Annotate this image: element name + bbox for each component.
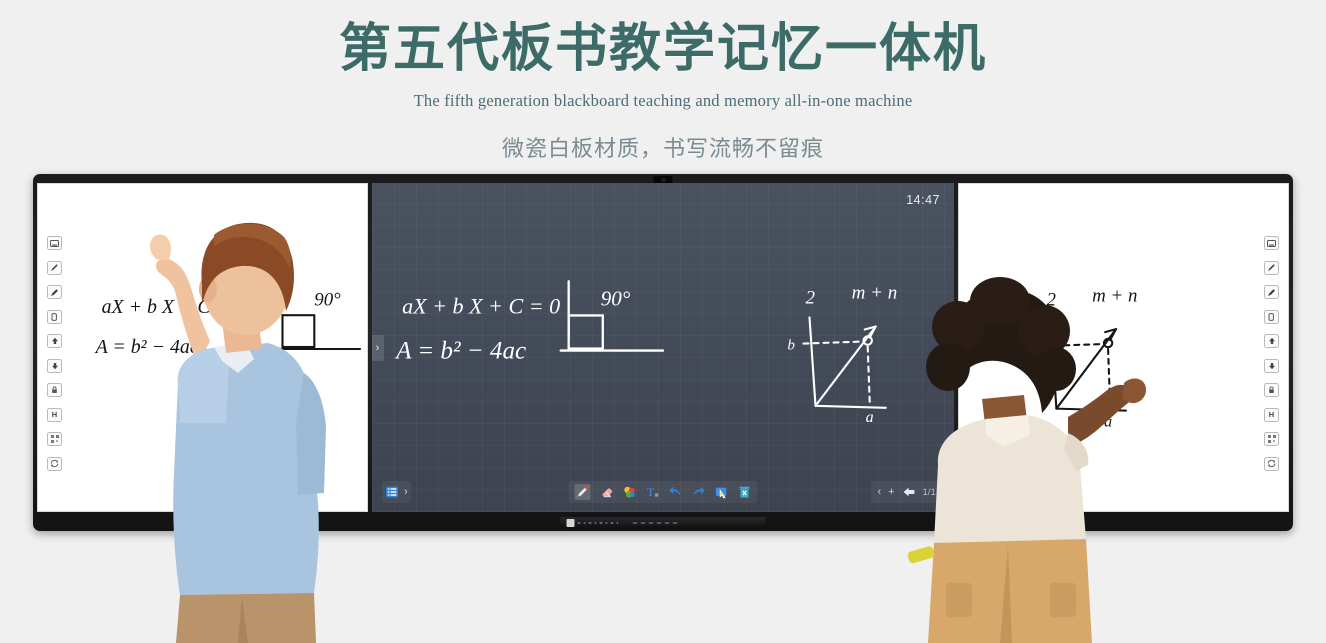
center-graph-axis-y: b [787,338,795,354]
scroll-up-icon[interactable] [47,334,62,348]
back-arrow-icon[interactable] [902,485,916,499]
left-panel-tool-column: H [47,236,62,471]
refresh-sync-icon[interactable] [1264,457,1279,471]
qr-code-icon[interactable] [47,432,62,446]
page-tagline: 微瓷白板材质，书写流畅不留痕 [0,131,1326,163]
right-graph-axis-x: a [1104,414,1112,431]
right-panel-handwriting: 2 m + n a [959,184,1288,512]
lock-icon[interactable] [47,383,62,397]
page-indicator: 1/1 [923,487,936,497]
scroll-down-icon[interactable] [1264,359,1279,373]
left-equation-line-2: A = b² − 4ac [94,336,199,358]
select-tool[interactable] [715,485,729,499]
center-graph-label-mn: m + n [852,282,898,303]
delete-tool[interactable] [738,485,752,499]
left-panel-handwriting: aX + b X + C = 0 A = b² − 4ac 90° [38,184,367,512]
scroll-up-icon[interactable] [1264,334,1279,348]
page-title: 第五代板书教学记忆一体机 [0,20,1326,80]
pen-tool[interactable] [575,484,591,500]
refresh-sync-icon[interactable] [47,457,62,471]
center-interactive-board[interactable]: › 14:47 aX + b X + C = 0 A = b² − 4ac 90… [372,183,954,512]
right-graph-label-2: 2 [1046,289,1056,310]
status-clock: 14:47 [906,193,940,207]
board-toolbar: › T [372,481,954,503]
right-graph-label-mn: m + n [1092,285,1137,306]
center-graph-label-2: 2 [805,287,815,308]
pen-thick-icon[interactable] [47,285,62,299]
center-board-handwriting: aX + b X + C = 0 A = b² − 4ac 90° 2 m + … [372,183,954,512]
lock-icon[interactable] [1264,383,1279,397]
qr-code-icon[interactable] [1264,432,1279,446]
pen-thick-icon[interactable] [1264,285,1279,299]
split-screen-icon[interactable]: H [47,408,62,422]
power-indicator-icon [567,519,575,527]
all-in-one-machine: H aX + b X + C = 0 A = b² − 4ac 90° [33,174,1293,531]
toolbar-tools-group: T [569,481,758,503]
toolbar-menu-group: › [382,481,411,503]
svg-text:T: T [647,485,655,499]
toolbar-expand-icon[interactable]: › [404,487,408,498]
right-whiteboard-panel[interactable]: H 2 m + n a [958,183,1289,512]
center-equation-line-1: aX + b X + C = 0 [402,293,560,318]
scroll-down-icon[interactable] [47,359,62,373]
right-panel-tool-column: H [1264,236,1279,471]
center-graph-axis-x: a [866,409,874,426]
menu-list-icon[interactable] [385,485,399,499]
eraser-tool[interactable] [600,485,614,499]
device-control-strip [561,517,766,529]
eraser-icon[interactable] [47,310,62,324]
pen-thin-icon[interactable] [1264,261,1279,275]
undo-tool[interactable] [669,485,683,499]
screen-capture-icon[interactable] [1264,236,1279,250]
sync-right-indicator[interactable] [942,335,954,361]
pen-thin-icon[interactable] [47,261,62,275]
text-tool[interactable]: T [646,485,660,499]
left-angle-label: 90° [314,289,341,310]
screen-group: H aX + b X + C = 0 A = b² − 4ac 90° [37,183,1289,512]
center-equation-line-2: A = b² − 4ac [394,338,526,365]
page-prev-button[interactable]: ‹ [877,487,881,498]
page-subtitle-english: The fifth generation blackboard teaching… [0,91,1326,111]
center-angle-label: 90° [601,286,631,310]
left-equation-line-1: aX + b X + C = 0 [102,296,244,318]
split-screen-icon[interactable]: H [1264,408,1279,422]
screen-capture-icon[interactable] [47,236,62,250]
toolbar-nav-group: ‹ + 1/1 [871,481,942,503]
left-whiteboard-panel[interactable]: H aX + b X + C = 0 A = b² − 4ac 90° [37,183,368,512]
eraser-icon[interactable] [1264,310,1279,324]
redo-tool[interactable] [692,485,706,499]
color-palette-tool[interactable] [623,485,637,499]
page-add-button[interactable]: + [888,487,894,498]
page-header: 第五代板书教学记忆一体机 The fifth generation blackb… [0,0,1326,163]
sync-left-indicator[interactable]: › [372,335,384,361]
